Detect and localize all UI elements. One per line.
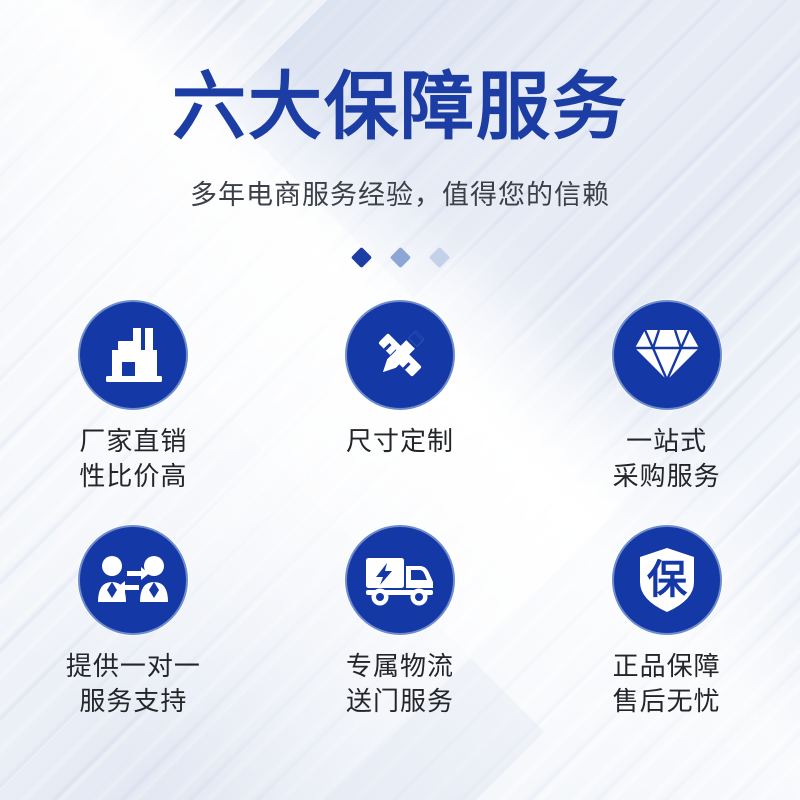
feature-grid: 厂家直销 性比价高 xyxy=(0,300,800,750)
feature-label-3: 一站式 采购服务 xyxy=(613,424,721,493)
banner-title: 六大保障服务 xyxy=(0,70,800,144)
feature-icon-circle-3 xyxy=(612,300,722,410)
feature-icon-circle-1 xyxy=(78,300,188,410)
feature-icon-circle-6: 保 xyxy=(612,525,722,635)
promo-banner: 六大保障服务 多年电商服务经验，值得您的信赖 xyxy=(0,0,800,800)
feature-label-1-line-2: 性比价高 xyxy=(79,459,187,494)
diamond-dot-1-icon xyxy=(350,247,371,268)
feature-label-5: 专属物流 送门服务 xyxy=(346,649,454,718)
pencil-ruler-icon xyxy=(368,323,432,387)
two-people-exchange-icon xyxy=(97,554,169,606)
diamond-dot-divider xyxy=(0,250,800,265)
feature-item-6[interactable]: 保 正品保障 售后无忧 xyxy=(533,525,800,750)
factory-icon xyxy=(100,324,166,386)
feature-label-3-line-2: 采购服务 xyxy=(613,459,721,494)
feature-item-5[interactable]: 专属物流 送门服务 xyxy=(267,525,534,750)
feature-label-1-line-1: 厂家直销 xyxy=(79,424,187,459)
feature-icon-circle-5 xyxy=(345,525,455,635)
banner-subtitle: 多年电商服务经验，值得您的信赖 xyxy=(0,182,800,209)
feature-label-5-line-1: 专属物流 xyxy=(346,649,454,684)
banner-content: 六大保障服务 多年电商服务经验，值得您的信赖 xyxy=(0,0,800,800)
feature-icon-circle-2 xyxy=(345,300,455,410)
feature-item-1[interactable]: 厂家直销 性比价高 xyxy=(0,300,267,525)
feature-item-4[interactable]: 提供一对一 服务支持 xyxy=(0,525,267,750)
feature-item-2[interactable]: 尺寸定制 xyxy=(267,300,534,525)
feature-label-6-line-2: 售后无忧 xyxy=(613,684,721,719)
feature-label-6-line-1: 正品保障 xyxy=(613,649,721,684)
feature-label-5-line-2: 送门服务 xyxy=(346,684,454,719)
delivery-truck-lightning-icon xyxy=(364,554,436,606)
feature-label-2-line-1: 尺寸定制 xyxy=(346,424,454,459)
feature-label-6: 正品保障 售后无忧 xyxy=(613,649,721,718)
feature-label-2: 尺寸定制 xyxy=(346,424,454,459)
feature-label-4: 提供一对一 服务支持 xyxy=(66,649,201,718)
feature-label-3-line-1: 一站式 xyxy=(613,424,721,459)
feature-item-3[interactable]: 一站式 采购服务 xyxy=(533,300,800,525)
shield-glyph: 保 xyxy=(647,558,688,602)
shield-guarantee-icon: 保 xyxy=(638,546,696,614)
diamond-dot-3-icon xyxy=(428,247,449,268)
diamond-gem-icon xyxy=(633,326,701,384)
feature-label-1: 厂家直销 性比价高 xyxy=(79,424,187,493)
feature-label-4-line-2: 服务支持 xyxy=(66,684,201,719)
diamond-dot-2-icon xyxy=(389,247,410,268)
feature-icon-circle-4 xyxy=(78,525,188,635)
feature-label-4-line-1: 提供一对一 xyxy=(66,649,201,684)
